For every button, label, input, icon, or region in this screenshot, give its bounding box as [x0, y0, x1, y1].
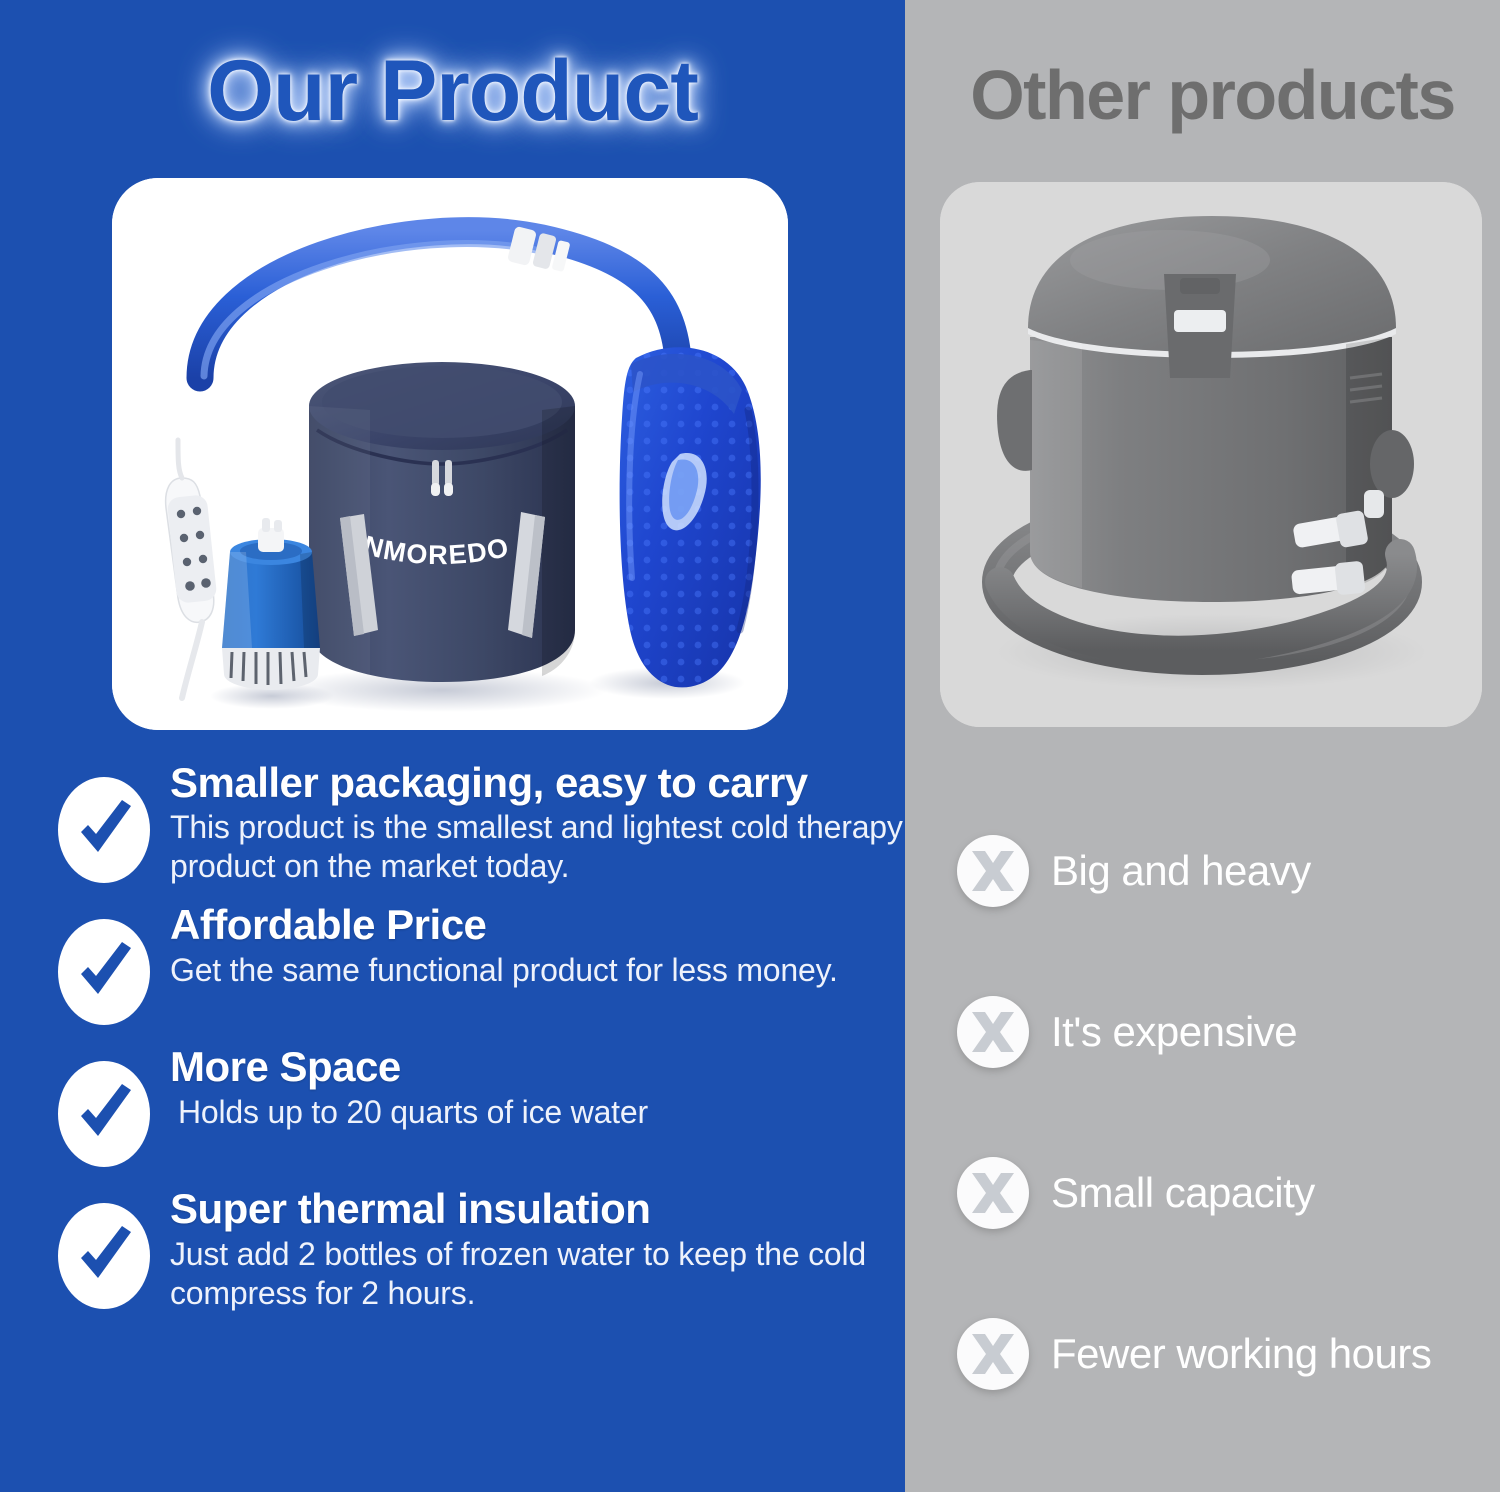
our-product-illustration: INMOREDO — [112, 178, 788, 730]
feature-subtitle: Holds up to 20 quarts of ice water — [170, 1093, 905, 1132]
check-icon — [56, 916, 152, 1028]
con-label: Small capacity — [1051, 1169, 1315, 1217]
con-item: Small capacity — [905, 1112, 1500, 1273]
con-label: Fewer working hours — [1051, 1330, 1431, 1378]
con-item: Fewer working hours — [905, 1273, 1500, 1434]
feature-subtitle: This product is the smallest and lightes… — [170, 808, 905, 886]
x-icon — [955, 1316, 1031, 1392]
our-product-image-card: INMOREDO — [112, 178, 788, 730]
x-icon — [955, 1155, 1031, 1231]
feature-subtitle: Get the same functional product for less… — [170, 951, 905, 990]
feature-subtitle: Just add 2 bottles of frozen water to ke… — [170, 1235, 905, 1313]
check-icon — [56, 1200, 152, 1312]
con-label: Big and heavy — [1051, 847, 1311, 895]
x-icon — [955, 994, 1031, 1070]
other-product-illustration — [940, 182, 1482, 727]
feature-item: Super thermal insulation Just add 2 bott… — [0, 1182, 905, 1312]
feature-item: More Space Holds up to 20 quarts of ice … — [0, 1040, 905, 1170]
check-icon — [56, 774, 152, 886]
feature-title: More Space — [170, 1044, 905, 1089]
feature-item: Affordable Price Get the same functional… — [0, 898, 905, 1028]
feature-item: Smaller packaging, easy to carry This pr… — [0, 756, 905, 886]
other-products-heading: Other products — [925, 55, 1500, 135]
other-product-image-card — [940, 182, 1482, 727]
con-list: Big and heavy It's expensive Small capac… — [905, 790, 1500, 1434]
our-product-panel: Our Product — [0, 0, 905, 1492]
con-label: It's expensive — [1051, 1008, 1297, 1056]
feature-title: Super thermal insulation — [170, 1186, 905, 1231]
feature-title: Smaller packaging, easy to carry — [170, 760, 905, 805]
con-item: Big and heavy — [905, 790, 1500, 951]
con-item: It's expensive — [905, 951, 1500, 1112]
feature-list: Smaller packaging, easy to carry This pr… — [0, 756, 905, 1325]
check-icon — [56, 1058, 152, 1170]
feature-title: Affordable Price — [170, 902, 905, 947]
our-product-heading: Our Product — [0, 42, 905, 141]
x-icon — [955, 833, 1031, 909]
